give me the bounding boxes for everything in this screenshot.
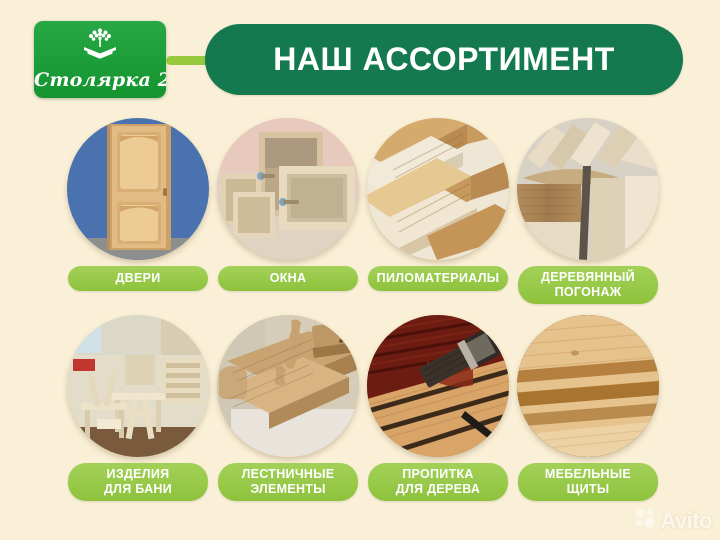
label-lumber-text: ПИЛОМАТЕРИАЛЫ	[377, 271, 500, 285]
label-sauna-goods-line2: ДЛЯ БАНИ	[104, 482, 172, 496]
label-wood-stain-line2: ДЛЯ ДЕРЕВА	[396, 482, 480, 496]
avito-dots-icon	[634, 507, 656, 534]
catalog-grid: ДВЕРИ	[0, 118, 720, 512]
catalog-row-1: ДВЕРИ	[0, 118, 720, 315]
catalog-row-2: ИЗДЕЛИЯ ДЛЯ БАНИ	[0, 315, 720, 512]
company-logo: Cтолярка 22	[34, 21, 166, 98]
label-windows-text: ОКНА	[270, 271, 307, 285]
tree-icon	[34, 26, 166, 60]
stacked-lumber-boards-image	[367, 118, 509, 260]
label-sauna-goods[interactable]: ИЗДЕЛИЯ ДЛЯ БАНИ	[68, 463, 208, 501]
label-sauna-goods-line1: ИЗДЕЛИЯ	[107, 467, 170, 481]
glued-furniture-panels-image	[517, 315, 659, 457]
label-furniture-panels-line2: ЩИТЫ	[567, 482, 610, 496]
thumb-furniture-panels[interactable]	[517, 315, 659, 457]
catalog-item-windows[interactable]: ОКНА	[212, 118, 364, 260]
avito-watermark-text: Avito	[660, 508, 712, 534]
thumb-sauna-goods[interactable]	[67, 315, 209, 457]
label-mouldings-line1: ДЕРЕВЯННЫЙ	[541, 270, 635, 284]
assortment-banner: НАШ АССОРТИМЕНТ	[205, 24, 683, 95]
header-banner-area: Cтолярка 22 НАШ АССОРТИМЕНТ	[0, 0, 720, 118]
label-furniture-panels[interactable]: МЕБЕЛЬНЫЕ ЩИТЫ	[518, 463, 658, 501]
label-wood-stain-line1: ПРОПИТКА	[402, 467, 474, 481]
label-doors[interactable]: ДВЕРИ	[68, 266, 208, 291]
catalog-item-mouldings[interactable]: ДЕРЕВЯННЫЙ ПОГОНАЖ	[512, 118, 664, 260]
label-windows[interactable]: ОКНА	[218, 266, 358, 291]
label-wood-stain[interactable]: ПРОПИТКА ДЛЯ ДЕРЕВА	[368, 463, 508, 501]
catalog-item-stair-parts[interactable]: ЛЕСТНИЧНЫЕ ЭЛЕМЕНТЫ	[212, 315, 364, 457]
thumb-mouldings[interactable]	[517, 118, 659, 260]
label-doors-text: ДВЕРИ	[115, 271, 160, 285]
thumb-wood-stain[interactable]	[367, 315, 509, 457]
label-stair-parts[interactable]: ЛЕСТНИЧНЫЕ ЭЛЕМЕНТЫ	[218, 463, 358, 501]
avito-watermark: Avito	[634, 507, 712, 534]
catalog-item-doors[interactable]: ДВЕРИ	[62, 118, 214, 260]
label-lumber[interactable]: ПИЛОМАТЕРИАЛЫ	[368, 266, 508, 291]
catalog-item-furniture-panels[interactable]: МЕБЕЛЬНЫЕ ЩИТЫ	[512, 315, 664, 457]
sauna-furniture-benches-image	[67, 315, 209, 457]
wooden-window-frames-image	[217, 118, 359, 260]
label-stair-parts-line1: ЛЕСТНИЧНЫЕ	[242, 467, 335, 481]
banner-title: НАШ АССОРТИМЕНТ	[273, 41, 615, 78]
label-mouldings[interactable]: ДЕРЕВЯННЫЙ ПОГОНАЖ	[518, 266, 658, 304]
thumb-stair-parts[interactable]	[217, 315, 359, 457]
brush-staining-deck-boards-image	[367, 315, 509, 457]
wood-mouldings-trim-image	[517, 118, 659, 260]
catalog-item-lumber[interactable]: ПИЛОМАТЕРИАЛЫ	[362, 118, 514, 260]
thumb-doors[interactable]	[67, 118, 209, 260]
label-furniture-panels-line1: МЕБЕЛЬНЫЕ	[545, 467, 631, 481]
stair-parts-balusters-image	[217, 315, 359, 457]
thumb-windows[interactable]	[217, 118, 359, 260]
catalog-item-wood-stain[interactable]: ПРОПИТКА ДЛЯ ДЕРЕВА	[362, 315, 514, 457]
thumb-lumber[interactable]	[367, 118, 509, 260]
catalog-item-sauna-goods[interactable]: ИЗДЕЛИЯ ДЛЯ БАНИ	[62, 315, 214, 457]
label-mouldings-line2: ПОГОНАЖ	[555, 285, 622, 299]
wooden-door-on-blue-wall-image	[67, 118, 209, 260]
logo-wordmark: Cтолярка 22	[34, 69, 166, 91]
label-stair-parts-line2: ЭЛЕМЕНТЫ	[250, 482, 326, 496]
